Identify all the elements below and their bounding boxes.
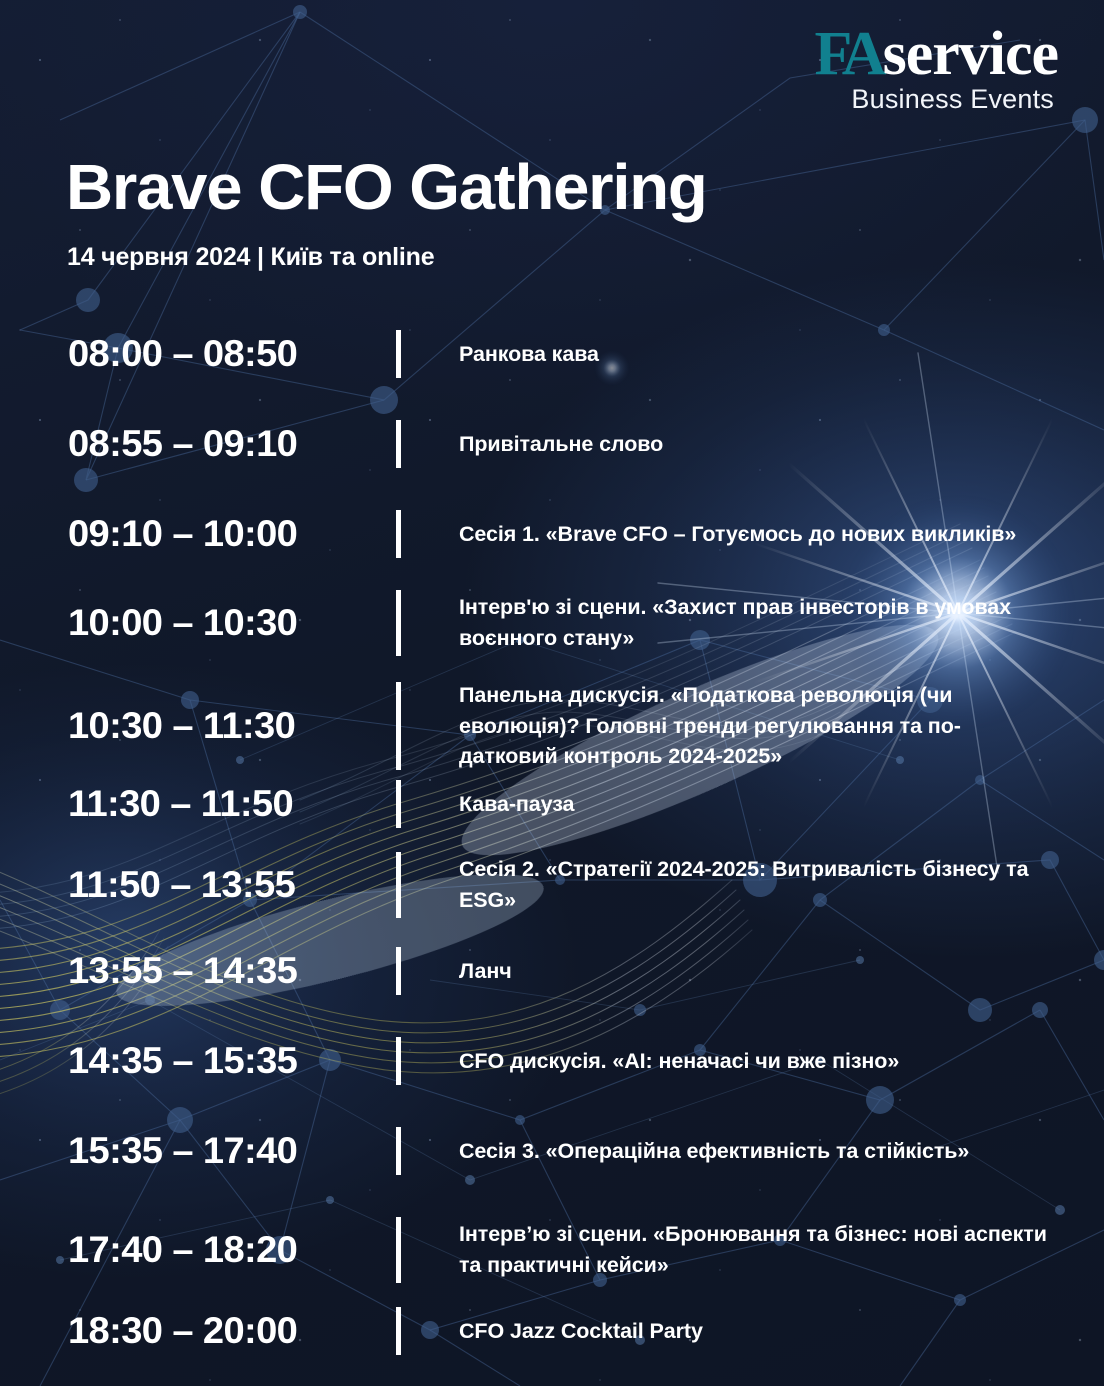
schedule-row: 18:30 – 20:00CFO Jazz Cocktail Party (0, 1307, 1104, 1355)
schedule-row-title: CFO Jazz Cocktail Party (459, 1316, 1084, 1347)
schedule-row-title: CFO дискусія. «AI: неначасі чи вже пізно… (459, 1046, 1084, 1077)
schedule-row: 15:35 – 17:40Сесія 3. «Операційна ефекти… (0, 1127, 1104, 1175)
schedule-row-title: Інтерв’ю зі сцени. «Бронювання та бізнес… (459, 1219, 1084, 1280)
logo-wordmark: FAservice (815, 26, 1058, 83)
schedule-row-title: Привітальне слово (459, 429, 1084, 460)
schedule-row-divider (396, 780, 401, 828)
schedule-row: 10:30 – 11:30Панельна дискусія. «Податко… (0, 680, 1104, 772)
schedule-row-time: 10:30 – 11:30 (0, 705, 350, 747)
schedule-row: 08:55 – 09:10Привітальне слово (0, 420, 1104, 468)
schedule-row: 17:40 – 18:20Інтерв’ю зі сцени. «Бронюва… (0, 1217, 1104, 1283)
schedule-row-title: Інтерв'ю зі сцени. «Захист прав інвестор… (459, 592, 1084, 653)
schedule-row: 13:55 – 14:35Ланч (0, 947, 1104, 995)
schedule-row-time: 11:50 – 13:55 (0, 864, 350, 906)
schedule-row-divider (396, 682, 401, 770)
schedule-row-title: Кава-пауза (459, 789, 1084, 820)
schedule-row-time: 15:35 – 17:40 (0, 1130, 350, 1172)
schedule-row-title: Сесія 2. «Стратегії 2024-2025: Витривалі… (459, 854, 1084, 915)
schedule-row-divider (396, 1307, 401, 1355)
schedule-row-time: 14:35 – 15:35 (0, 1040, 350, 1082)
schedule-row: 11:30 – 11:50Кава-пауза (0, 780, 1104, 828)
schedule-row-time: 08:00 – 08:50 (0, 333, 350, 375)
page-title: Brave CFO Gathering (66, 150, 707, 224)
schedule-row-divider (396, 590, 401, 656)
schedule-row-time: 10:00 – 10:30 (0, 602, 350, 644)
schedule-row-divider (396, 852, 401, 918)
schedule-row-divider (396, 1037, 401, 1085)
schedule-row-time: 09:10 – 10:00 (0, 513, 350, 555)
schedule-row-title: Ланч (459, 956, 1084, 987)
schedule-row: 08:00 – 08:50Ранкова кава (0, 330, 1104, 378)
logo-fa-mark: FA (815, 20, 881, 88)
schedule-row: 11:50 – 13:55Сесія 2. «Стратегії 2024-20… (0, 852, 1104, 918)
schedule-row: 09:10 – 10:00Сесія 1. «Brave CFO – Готує… (0, 510, 1104, 558)
schedule-row-divider (396, 330, 401, 378)
schedule-row-divider (396, 420, 401, 468)
schedule-row: 14:35 – 15:35CFO дискусія. «AI: неначасі… (0, 1037, 1104, 1085)
schedule-row-divider (396, 1217, 401, 1283)
schedule-row-time: 08:55 – 09:10 (0, 423, 350, 465)
event-date-location: 14 червня 2024 | Київ та online (67, 243, 434, 272)
logo-service-text: service (883, 20, 1058, 88)
schedule-row-time: 17:40 – 18:20 (0, 1229, 350, 1271)
schedule-row-time: 18:30 – 20:00 (0, 1310, 350, 1352)
brand-logo: FAservice Business Events (815, 26, 1058, 113)
schedule-row: 10:00 – 10:30Інтерв'ю зі сцени. «Захист … (0, 590, 1104, 656)
schedule-row-divider (396, 510, 401, 558)
schedule-row-time: 13:55 – 14:35 (0, 950, 350, 992)
schedule-row-divider (396, 947, 401, 995)
schedule-row-divider (396, 1127, 401, 1175)
schedule-row-title: Сесія 3. «Операційна ефективність та сті… (459, 1136, 1084, 1167)
schedule-row-time: 11:30 – 11:50 (0, 783, 350, 825)
schedule-row-title: Ранкова кава (459, 339, 1084, 370)
schedule-row-title: Сесія 1. «Brave CFO – Готуємось до нових… (459, 519, 1084, 550)
logo-tagline: Business Events (815, 86, 1058, 113)
schedule-row-title: Панельна дискусія. «Податкова революція … (459, 680, 1084, 772)
